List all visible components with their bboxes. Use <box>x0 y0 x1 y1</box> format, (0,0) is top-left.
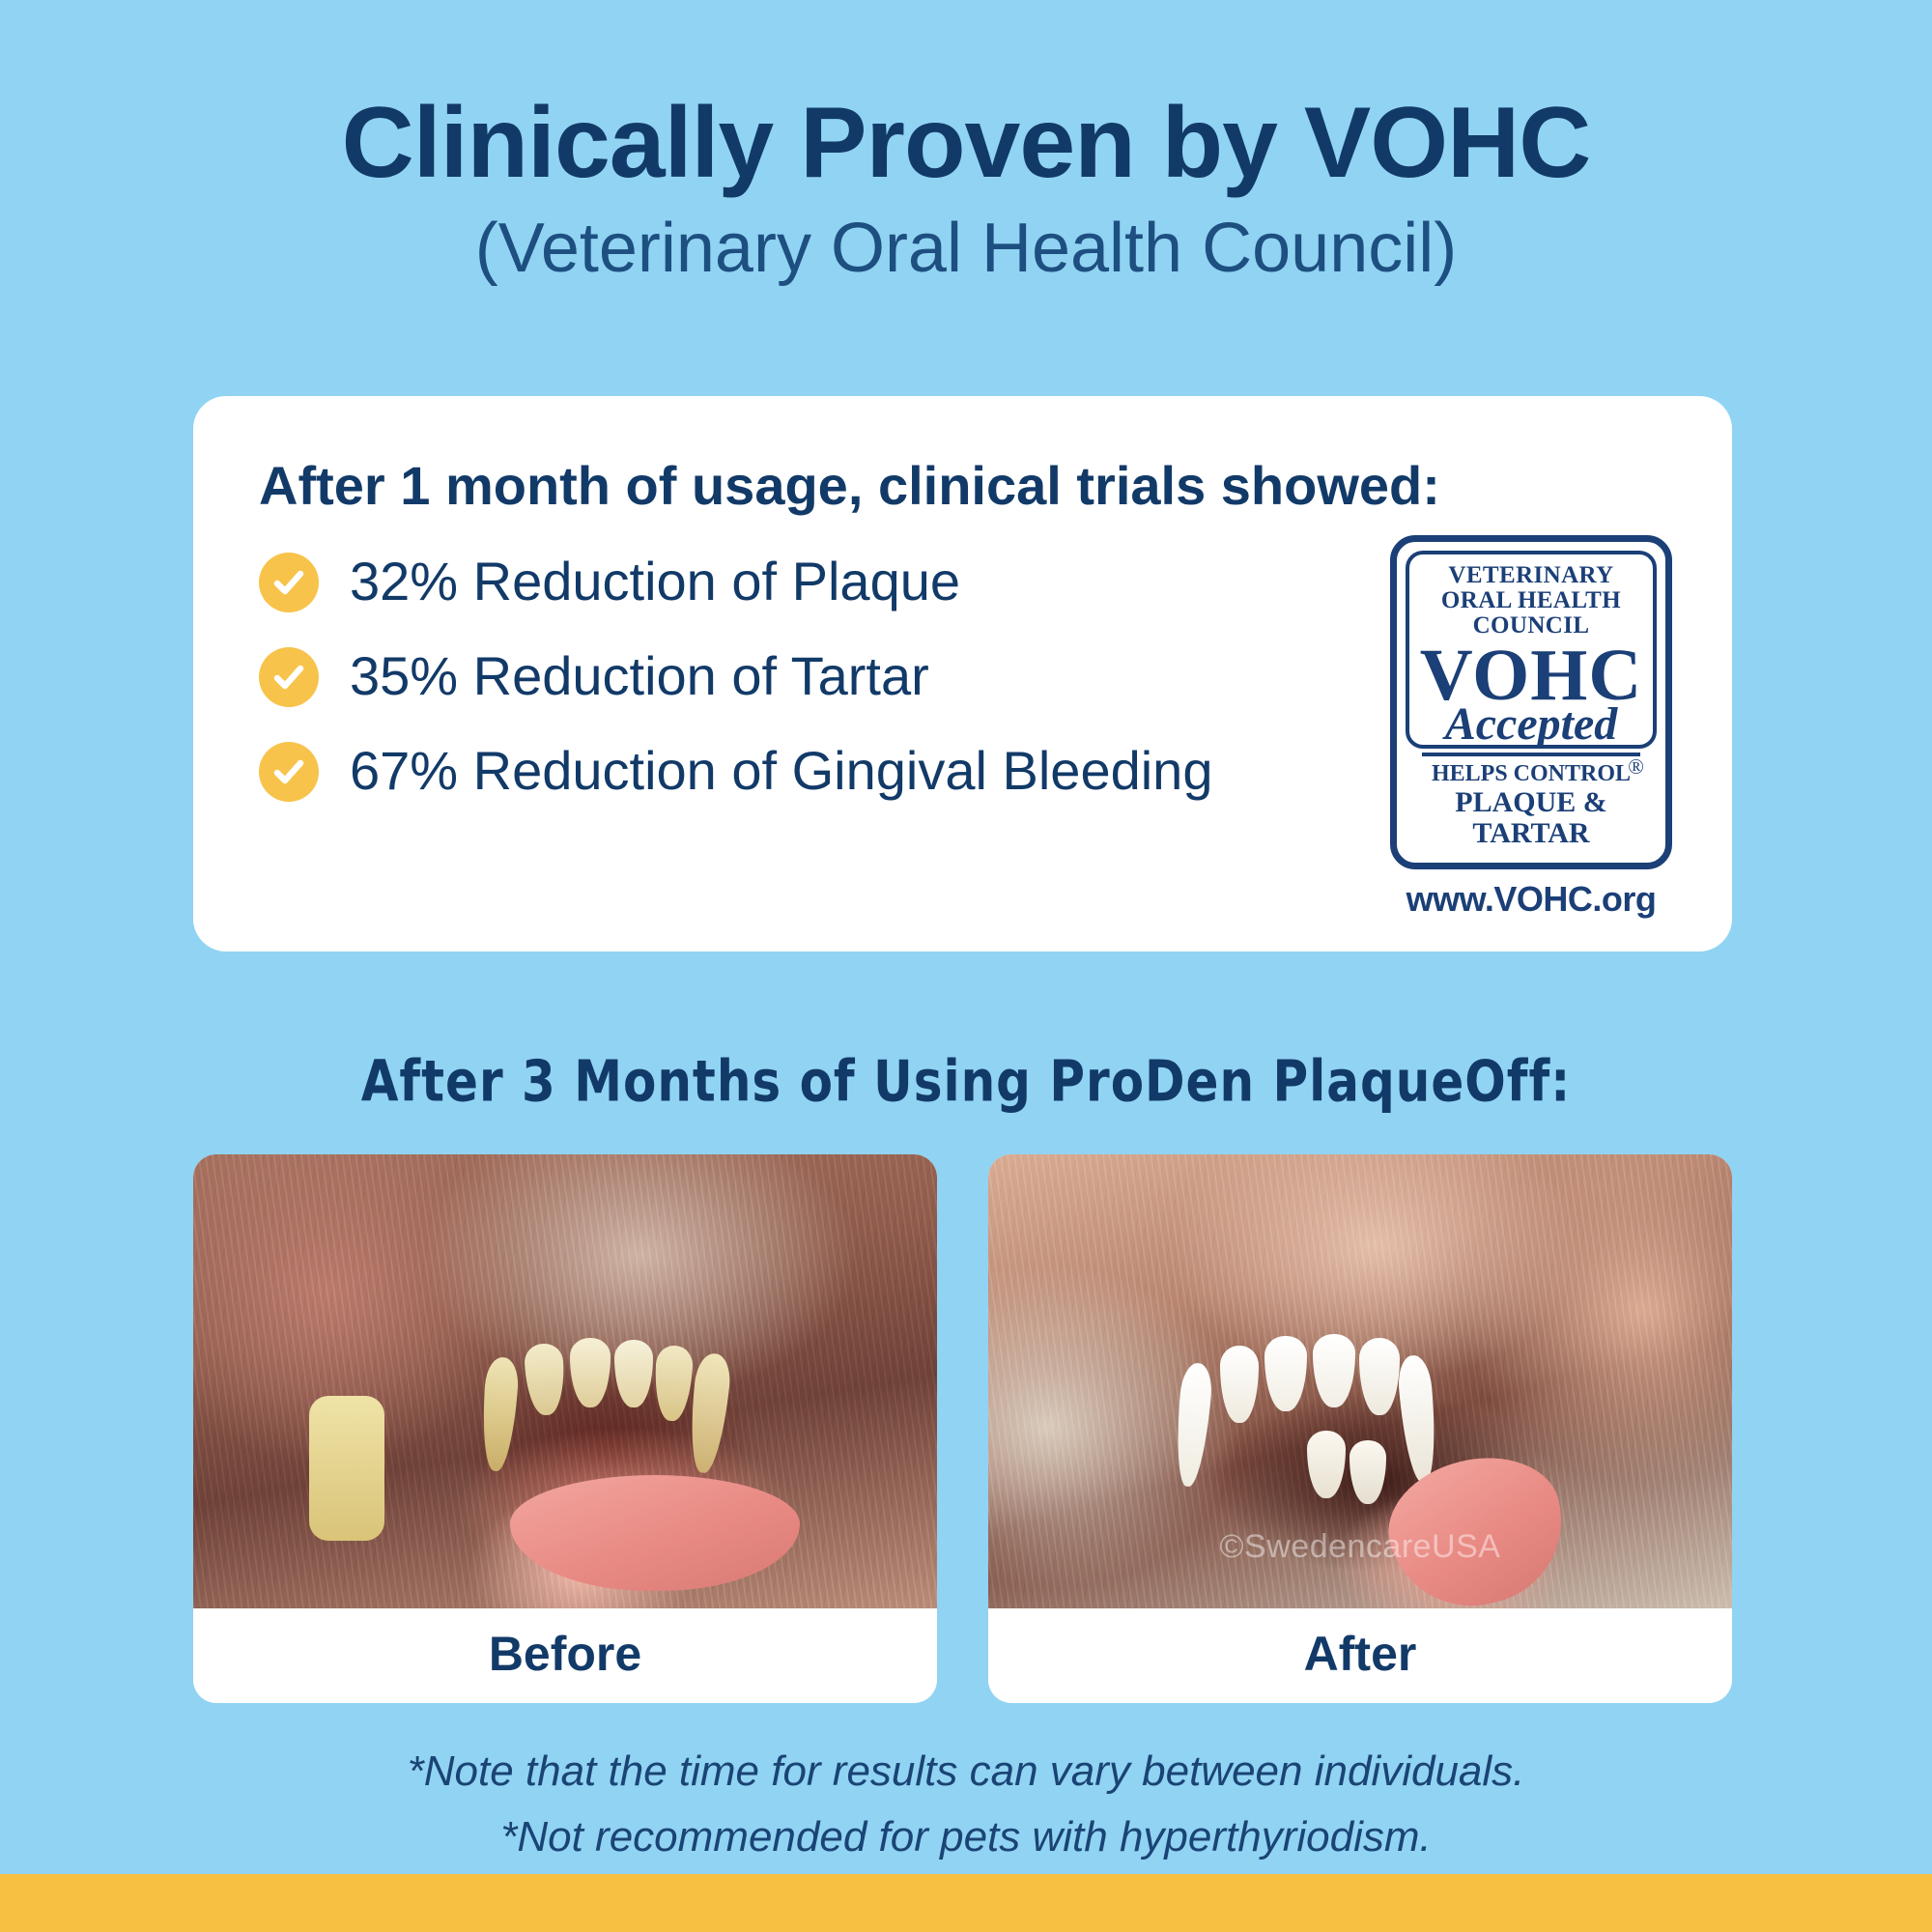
bottom-accent-bar <box>0 1874 1932 1932</box>
stat-label: 35% Reduction of Tartar <box>350 648 929 705</box>
check-icon <box>259 647 319 707</box>
comparison-heading: After 3 Months of Using ProDen PlaqueOff… <box>0 1048 1932 1114</box>
photo-caption-before: Before <box>193 1608 937 1703</box>
footnote-1: *Note that the time for results can vary… <box>0 1739 1932 1804</box>
seal-line-4: PLAQUE & TARTAR <box>1406 787 1656 850</box>
before-photo-card: Before <box>193 1154 937 1703</box>
list-item: 35% Reduction of Tartar <box>259 647 1212 707</box>
tooth <box>309 1396 384 1541</box>
after-photo-card: ©SwedencareUSA After <box>988 1154 1732 1703</box>
before-photo <box>193 1154 937 1608</box>
list-item: 67% Reduction of Gingival Bleeding <box>259 742 1212 802</box>
seal-box: VETERINARY ORAL HEALTH COUNCIL VOHC Acce… <box>1390 535 1672 870</box>
seal-line-1: VETERINARY <box>1406 563 1656 588</box>
seal-accepted-script: Accepted <box>1406 703 1656 745</box>
watermark: ©SwedencareUSA <box>988 1528 1732 1566</box>
footnote-2: *Not recommended for pets with hyperthyr… <box>0 1804 1932 1870</box>
photo-caption-after: After <box>988 1608 1732 1703</box>
clinical-results-card: After 1 month of usage, clinical trials … <box>193 396 1732 952</box>
seal-line-3: HELPS CONTROL <box>1406 762 1656 787</box>
infographic-page: Clinically Proven by VOHC (Veterinary Or… <box>0 0 1932 1932</box>
check-icon <box>259 742 319 802</box>
page-title: Clinically Proven by VOHC <box>0 93 1932 193</box>
check-icon <box>259 553 319 612</box>
page-subtitle: (Veterinary Oral Health Council) <box>0 211 1932 287</box>
list-item: 32% Reduction of Plaque <box>259 553 1212 612</box>
after-photo: ©SwedencareUSA <box>988 1154 1732 1608</box>
stat-label: 67% Reduction of Gingival Bleeding <box>350 743 1212 800</box>
seal-website-url: www.VOHC.org <box>1390 879 1672 920</box>
registered-trademark-icon: ® <box>1628 754 1644 780</box>
seal-divider <box>1422 753 1640 756</box>
header: Clinically Proven by VOHC (Veterinary Or… <box>0 93 1932 287</box>
footnotes: *Note that the time for results can vary… <box>0 1739 1932 1870</box>
seal-line-2: ORAL HEALTH COUNCIL <box>1406 588 1656 639</box>
stats-list: 32% Reduction of Plaque 35% Reduction of… <box>259 553 1212 802</box>
vohc-accepted-seal: VETERINARY ORAL HEALTH COUNCIL VOHC Acce… <box>1390 535 1672 921</box>
before-after-gallery: Before ©SwedencareUSA After <box>193 1154 1732 1703</box>
stat-label: 32% Reduction of Plaque <box>350 554 960 611</box>
stats-heading: After 1 month of usage, clinical trials … <box>259 456 1680 516</box>
